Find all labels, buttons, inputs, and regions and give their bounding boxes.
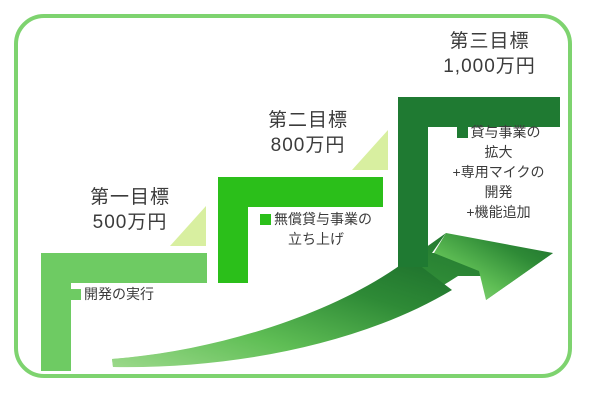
goal-3-heading: 第三目標 1,000万円 <box>412 29 567 79</box>
goal-2-caption: 無償貸与事業の 立ち上げ <box>246 209 386 249</box>
goal-1-caption: 開発の実行 <box>70 284 205 304</box>
goal-1-bullet-square <box>70 289 81 300</box>
goal-3-bullet-square <box>457 127 468 138</box>
goal-1-heading: 第一目標 500万円 <box>55 185 205 235</box>
goal-2-bullet-square <box>260 214 271 225</box>
goal-3-caption-text: 貸与事業の 拡大 +専用マイクの 開発 +機能追加 <box>453 124 545 220</box>
goal-2-heading: 第二目標 800万円 <box>233 108 383 158</box>
step-bar-goal-1-vertical <box>41 253 71 371</box>
step-bar-goal-3-vertical <box>398 97 428 267</box>
goal-2-caption-text: 無償貸与事業の 立ち上げ <box>274 211 372 247</box>
step-bar-goal-2-vertical <box>218 177 248 283</box>
goal-3-caption: 貸与事業の 拡大 +専用マイクの 開発 +機能追加 <box>436 122 561 222</box>
diagram-canvas: 第一目標 500万円 第二目標 800万円 第三目標 1,000万円 開発の実行… <box>0 0 600 400</box>
goal-1-caption-text: 開発の実行 <box>84 286 154 302</box>
step-bar-goal-1 <box>41 253 207 371</box>
